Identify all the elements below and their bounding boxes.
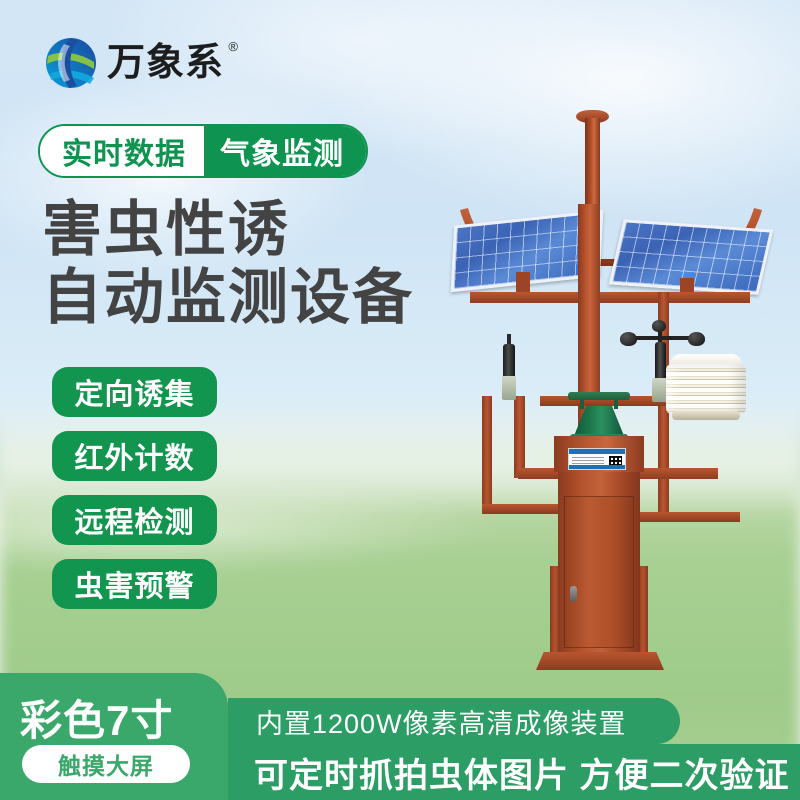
trap-cover-leg-right — [614, 399, 618, 409]
camera-detail-text: 可定时抓拍虫体图片 方便二次验证 — [254, 748, 789, 797]
globe-icon — [44, 36, 98, 90]
radiation-shield — [666, 354, 746, 420]
anemometer — [655, 342, 666, 382]
anemometer-cup-left — [620, 332, 637, 346]
wind-vane — [503, 344, 515, 380]
title-line-1: 害虫性诱 — [42, 196, 414, 264]
screen-spec-panel: 彩色7寸 触摸大屏 — [0, 673, 228, 800]
trap-cover-leg-left — [580, 399, 584, 409]
pheromone-trap — [566, 392, 632, 440]
brand-logo: 万象系® — [44, 36, 224, 90]
cabinet-door — [564, 496, 634, 648]
radiation-shield-base — [672, 411, 740, 420]
left-vertical-bar — [514, 396, 525, 478]
title-line-2: 自动监测设备 — [42, 264, 414, 332]
camera-spec-banner: 内置1200W像素高清成像装置 — [228, 698, 680, 744]
feature-pill-4: 虫害预警 — [52, 559, 217, 609]
trap-rain-cover — [568, 392, 630, 400]
badge-realtime-data: 实时数据 — [40, 126, 204, 176]
brand-name-text: 万象系 — [107, 42, 224, 84]
page-title: 害虫性诱 自动监测设备 — [42, 196, 414, 332]
brand-name: 万象系® — [107, 44, 224, 82]
outer-left-vertical-bar — [482, 396, 492, 512]
cabinet-lock-icon — [570, 586, 577, 602]
product-poster: 万象系® 实时数据 气象监测 害虫性诱 自动监测设备 定向诱集 红外计数 远程检… — [0, 0, 800, 800]
camera-spec-text: 内置1200W像素高清成像装置 — [256, 702, 627, 741]
cabinet-base-plate — [536, 652, 664, 670]
screen-size-title: 彩色7寸 — [20, 687, 173, 748]
badge-weather-monitoring: 气象监测 — [204, 126, 366, 176]
feature-badge: 实时数据 气象监测 — [38, 124, 368, 178]
feature-list: 定向诱集 红外计数 远程检测 虫害预警 — [52, 367, 217, 609]
product-image — [430, 96, 790, 696]
anemometer-cup-center — [652, 320, 666, 332]
touchscreen-badge: 触摸大屏 — [22, 745, 190, 783]
upper-crossbar — [470, 292, 750, 303]
feature-pill-2: 红外计数 — [52, 431, 217, 481]
camera-detail-banner: 可定时抓拍虫体图片 方便二次验证 — [228, 744, 800, 800]
trap-funnel — [574, 406, 624, 436]
wind-vane-post — [502, 376, 516, 400]
radiation-shield-louvers — [666, 364, 746, 414]
anemometer-cup-right — [688, 332, 705, 346]
feature-pill-3: 远程检测 — [52, 495, 217, 545]
feature-pill-1: 定向诱集 — [52, 367, 217, 417]
product-label — [568, 448, 626, 470]
trademark-symbol: ® — [228, 40, 239, 53]
